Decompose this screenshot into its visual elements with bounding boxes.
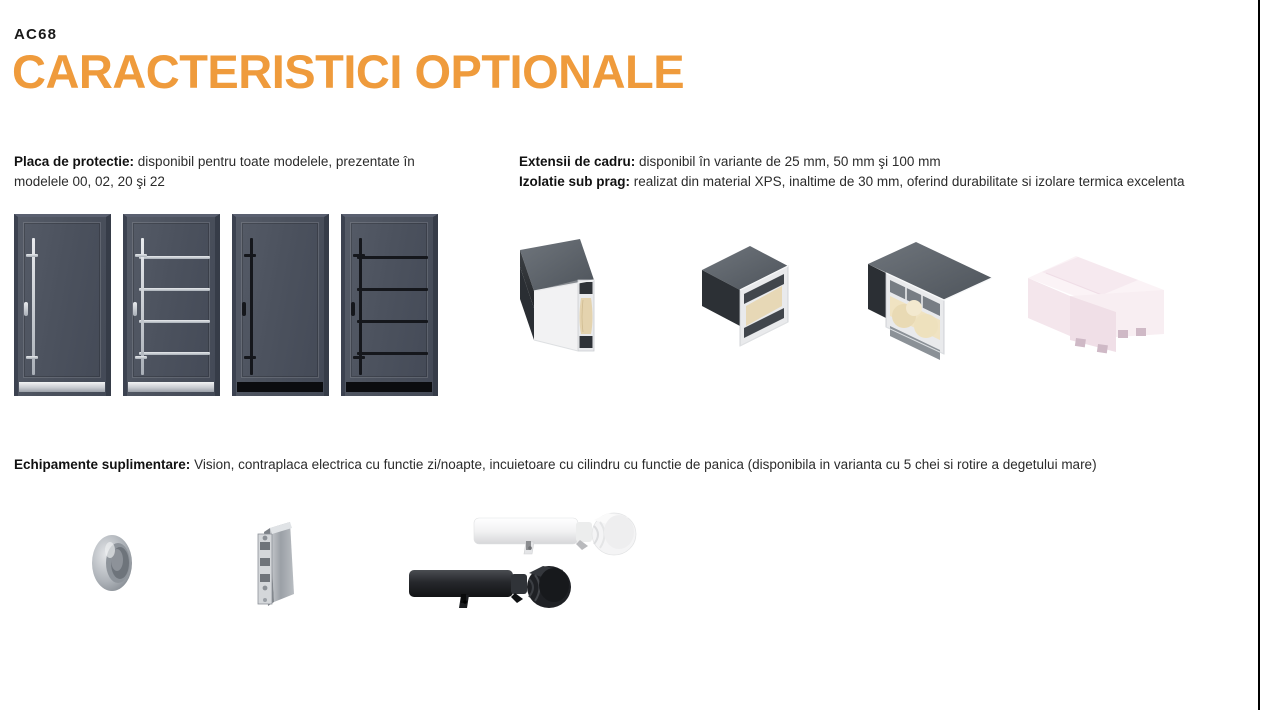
frame-extension-100mm-image [856,236,1006,368]
frame-extension-50mm-image [698,240,808,365]
door-model-02-image [123,214,220,396]
page-title: CARACTERISTICI OPTIONALE [12,47,684,96]
protection-plate-copy: Placa de protectie: disponibil pentru to… [14,152,464,191]
door-lock-plate-icon [133,302,137,316]
door-lock-plate-icon [24,302,28,316]
frame-extension-copy: Extensii de cadru: disponibil în variant… [519,152,1249,191]
door-handle-top-nub [353,254,365,257]
door-design-strip [357,288,428,291]
cylinder-lock-black-image [405,560,585,628]
threshold-insulation-label: Izolatie sub prag: [519,174,630,189]
door-threshold [19,382,105,392]
door-design-strip [357,256,428,259]
xps-threshold-insulation-image [1018,252,1178,372]
protection-plate-label: Placa de protectie: [14,154,134,169]
door-handle-bottom-nub [244,356,256,359]
door-model-22-image [341,214,438,396]
door-handle-top-nub [244,254,256,257]
door-design-strip [357,320,428,323]
door-design-strip [139,352,210,355]
threshold-insulation-text: realizat din material XPS, inaltime de 3… [630,174,1185,189]
door-threshold [237,382,323,392]
additional-equipment-text: Vision, contraplaca electrica cu functie… [190,457,1096,472]
threshold-insulation-line: Izolatie sub prag: realizat din material… [519,172,1249,192]
door-lock-plate-icon [242,302,246,316]
additional-equipment-label: Echipamente suplimentare: [14,457,190,472]
door-handle-icon [32,238,35,375]
door-design-strip [139,320,210,323]
frame-extension-text: disponibil în variante de 25 mm, 50 mm ş… [635,154,940,169]
door-handle-top-nub [26,254,38,257]
door-threshold [128,382,214,392]
door-design-strip [139,288,210,291]
door-lock-plate-icon [351,302,355,316]
door-handle-icon [359,238,362,375]
frame-extension-25mm-image [516,236,626,366]
page-eyebrow: AC68 [14,26,57,43]
door-threshold [346,382,432,392]
door-viewer-vision-image [84,528,144,598]
door-design-strip [357,352,428,355]
door-handle-top-nub [135,254,147,257]
electric-strike-plate-image [250,518,310,610]
door-design-strip [139,256,210,259]
door-handle-bottom-nub [26,356,38,359]
door-handle-bottom-nub [353,356,365,359]
door-handle-icon [250,238,253,375]
door-handle-icon [141,238,144,375]
door-model-gallery [14,214,438,396]
additional-equipment-copy: Echipamente suplimentare: Vision, contra… [14,455,1184,475]
optional-features-page: AC68 CARACTERISTICI OPTIONALE Placa de p… [0,0,1262,710]
door-model-20-image [232,214,329,396]
frame-extension-line: Extensii de cadru: disponibil în variant… [519,152,1249,172]
door-handle-bottom-nub [135,356,147,359]
frame-extension-label: Extensii de cadru: [519,154,635,169]
page-right-edge-rule [1258,0,1260,710]
door-model-00-image [14,214,111,396]
